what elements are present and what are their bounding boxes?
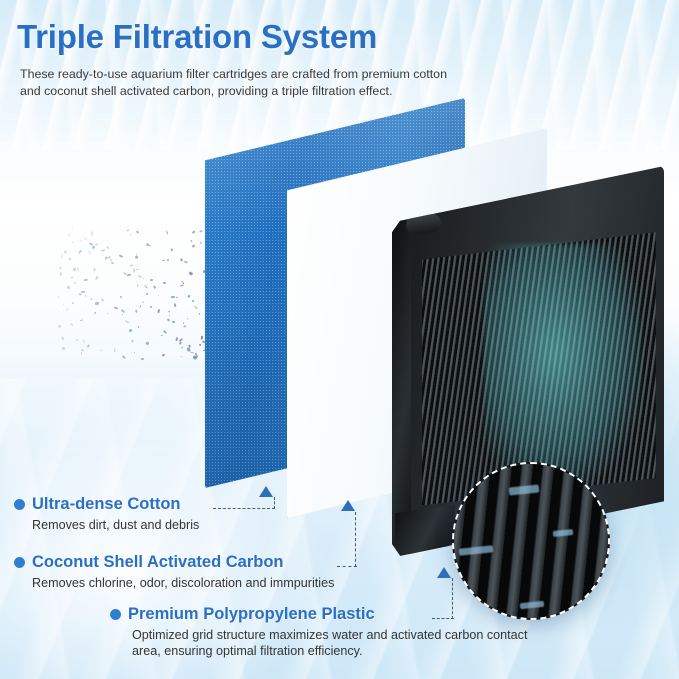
magnified-slats (452, 462, 610, 620)
callout-title: Ultra-dense Cotton (32, 495, 181, 514)
callout-ultra-dense-cotton: Ultra-dense Cotton Removes dirt, dust an… (14, 495, 199, 533)
bullet-dot-icon (14, 499, 25, 510)
grid-closeup-magnifier (452, 462, 610, 620)
infographic-poster: Triple Filtration System These ready-to-… (0, 0, 679, 679)
frame-side-lip (392, 221, 411, 549)
bullet-dot-icon (110, 609, 121, 620)
water-flow-glow (484, 244, 642, 486)
callout-title: Premium Polypropylene Plastic (128, 605, 375, 624)
callout-premium-polypropylene-plastic: Premium Polypropylene Plastic Optimized … (110, 605, 532, 659)
callout-subtitle: Removes chlorine, odor, discoloration an… (32, 575, 334, 591)
callout-title: Coconut Shell Activated Carbon (32, 553, 284, 572)
callout-coconut-shell-activated-carbon: Coconut Shell Activated Carbon Removes c… (14, 553, 334, 591)
bullet-dot-icon (14, 557, 25, 568)
callout-subtitle: Removes dirt, dust and debris (32, 517, 199, 533)
callout-subtitle: Optimized grid structure maximizes water… (132, 627, 532, 659)
frame-bottom-foot (395, 505, 455, 556)
